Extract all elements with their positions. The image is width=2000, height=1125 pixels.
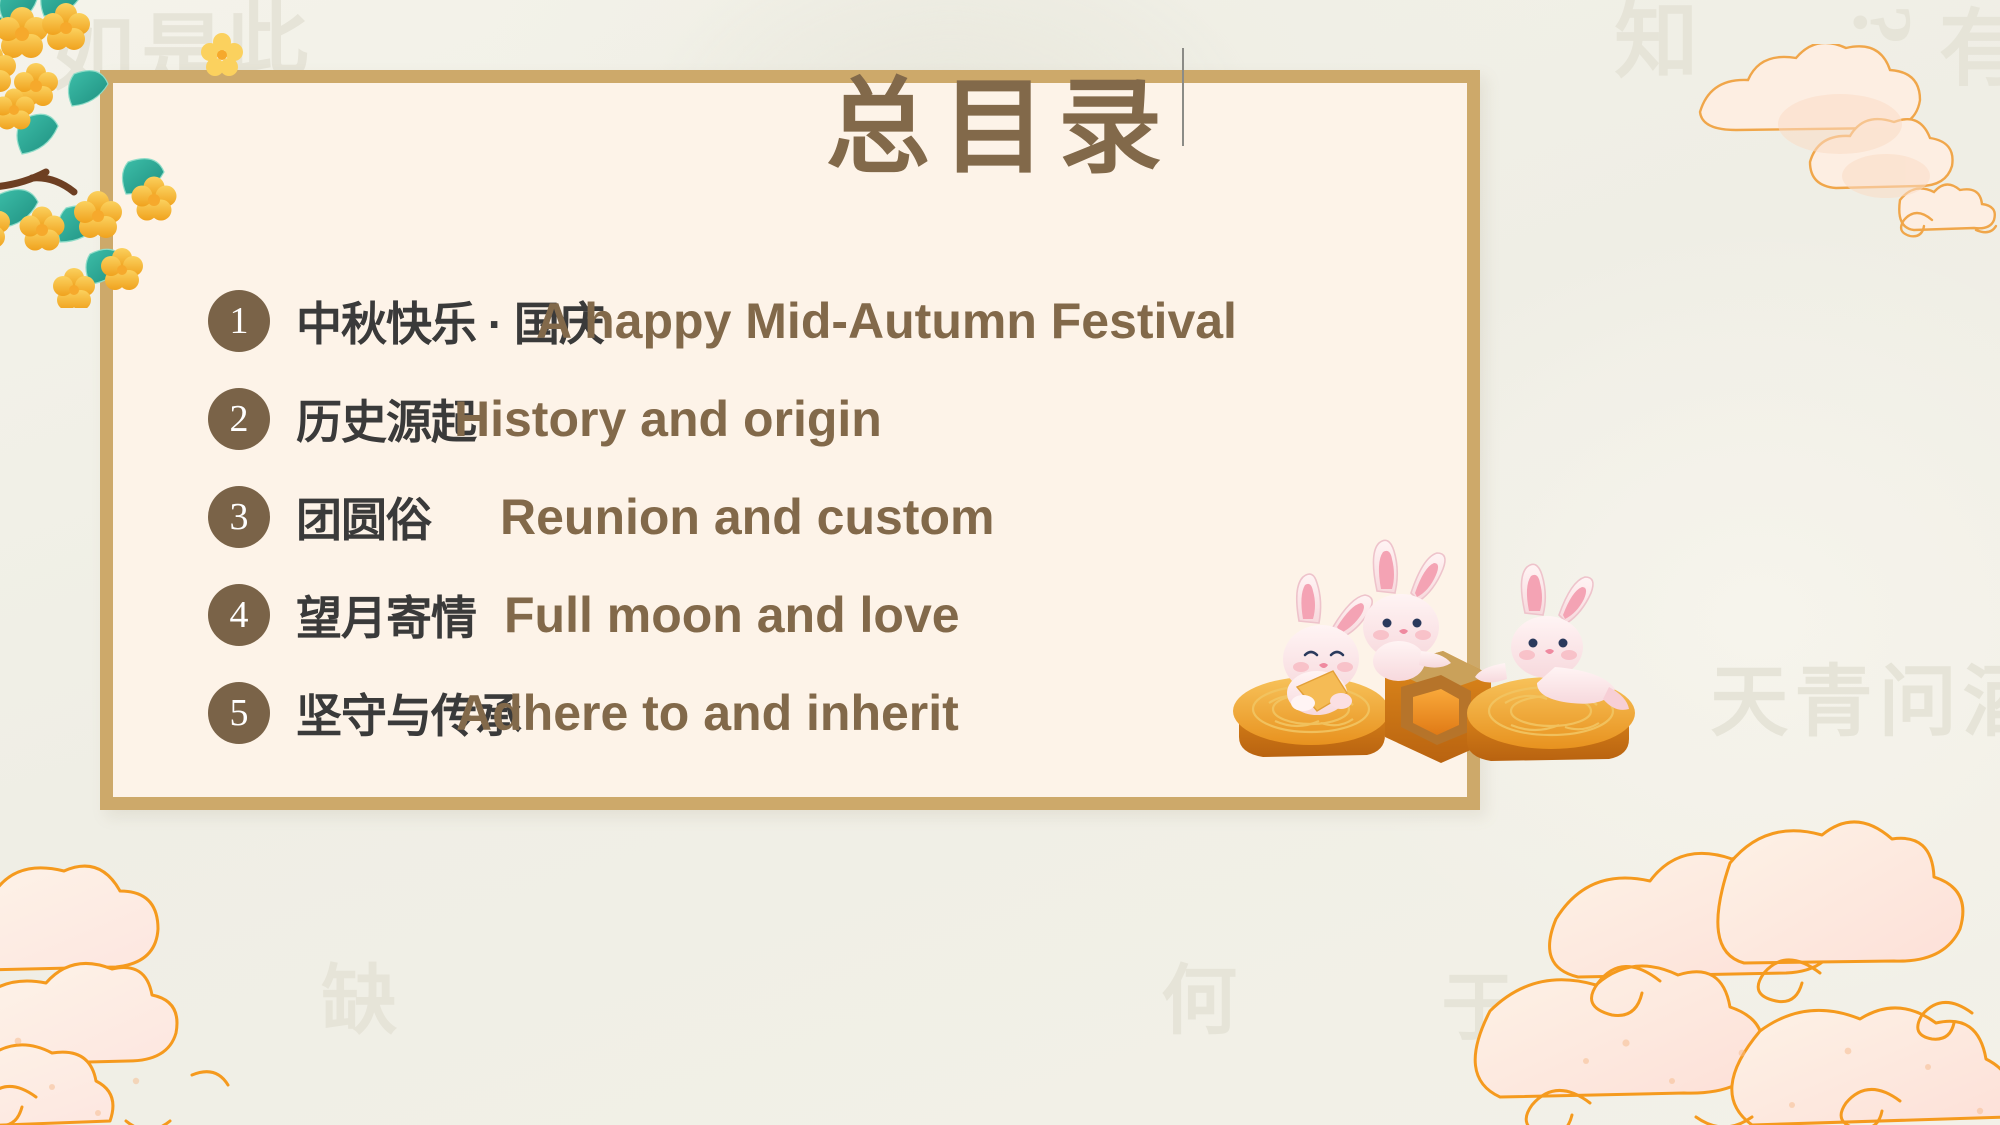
toc-number-badge: 1	[208, 290, 270, 352]
toc-label-chinese: 历史源起	[296, 386, 476, 452]
auspicious-cloud-icon	[0, 835, 400, 1125]
toc-label-chinese: 望月寄情	[296, 582, 476, 648]
page-title-text: 总目录	[826, 70, 1174, 186]
watermark-column-6: 何	[1150, 960, 1232, 1054]
toc-number-badge: 3	[208, 486, 270, 548]
toc-text-stack: 历史源起 History and origin	[296, 384, 1368, 454]
text-cursor-caret	[1182, 48, 1184, 146]
toc-label-english: History and origin	[454, 390, 882, 448]
toc-item-1[interactable]: 1 中秋快乐 · 国庆 A happy Mid-Autumn Festival	[208, 272, 1368, 370]
slide-canvas: 是 如 此 知 明 月 几 时 有 ? 把 酒 问 青 天 何 缺 于 总目录	[0, 0, 2000, 1125]
toc-item-3[interactable]: 3 团圆俗 Reunion and custom	[208, 468, 1368, 566]
toc-item-4[interactable]: 4 望月寄情 Full moon and love	[208, 566, 1368, 664]
toc-text-stack: 团圆俗 Reunion and custom	[296, 482, 1368, 552]
toc-number-badge: 5	[208, 682, 270, 744]
toc-text-stack: 坚守与传承 Adhere to and inherit	[296, 678, 1368, 748]
watermark-column-5: 把 酒 问 青 天	[1700, 660, 2000, 756]
rabbit-center	[1363, 540, 1451, 681]
toc-label-english: Full moon and love	[504, 586, 960, 644]
table-of-contents: 1 中秋快乐 · 国庆 A happy Mid-Autumn Festival …	[208, 272, 1368, 762]
toc-label-english: Adhere to and inherit	[456, 684, 959, 742]
page-title: 总目录	[826, 42, 1174, 193]
toc-label-chinese: 团圆俗	[296, 484, 431, 550]
toc-number-badge: 4	[208, 584, 270, 646]
toc-text-stack: 望月寄情 Full moon and love	[296, 580, 1368, 650]
auspicious-cloud-icon	[1340, 815, 2000, 1125]
mooncakes-with-rabbits-illustration	[1225, 535, 1645, 815]
toc-number-badge: 2	[208, 388, 270, 450]
toc-text-stack: 中秋快乐 · 国庆 A happy Mid-Autumn Festival	[296, 286, 1368, 356]
page-title-wrapper: 总目录	[0, 42, 2000, 193]
toc-item-2[interactable]: 2 历史源起 History and origin	[208, 370, 1368, 468]
toc-item-5[interactable]: 5 坚守与传承 Adhere to and inherit	[208, 664, 1368, 762]
toc-label-english: A happy Mid-Autumn Festival	[536, 292, 1237, 350]
toc-label-english: Reunion and custom	[500, 488, 994, 546]
